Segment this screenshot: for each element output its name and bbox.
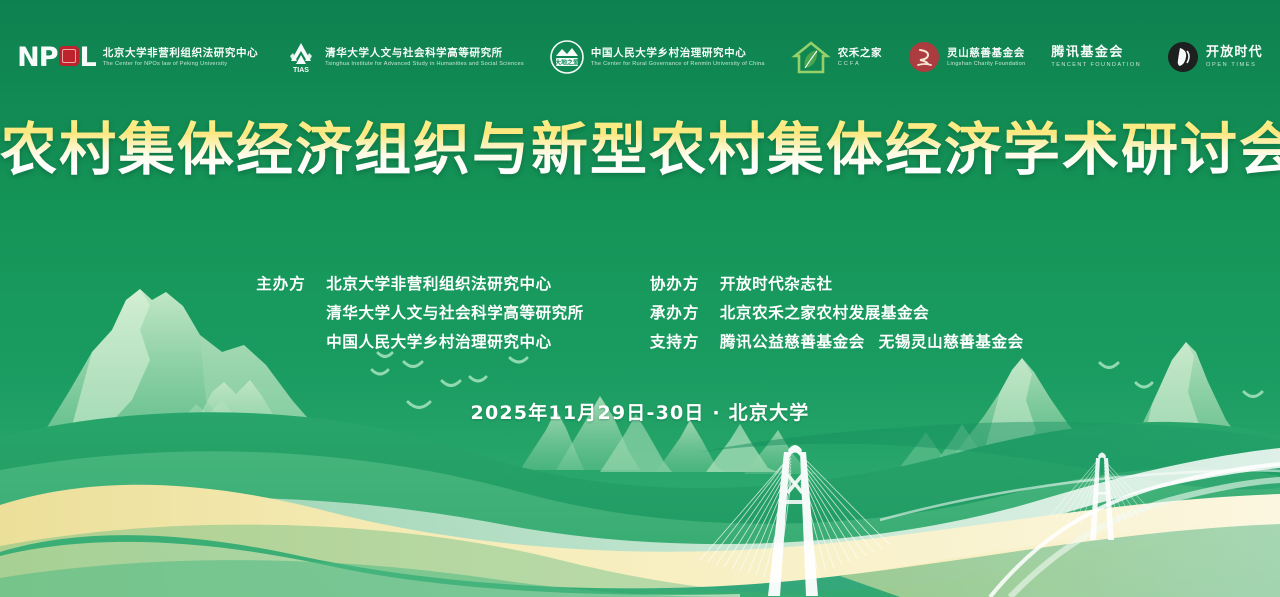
bridge-crossbeam: [785, 500, 809, 504]
credit-row: 主办方 北京大学非营利组织法研究中心: [256, 272, 584, 294]
credit-value: 中国人民大学乡村治理研究中心: [326, 330, 551, 352]
credit-row: 协办方 开放时代杂志社: [650, 272, 1024, 294]
logo-lingshan-en: Lingshan Charity Foundation: [947, 61, 1025, 67]
logo-renmin: 大地之爱 中国人民大学乡村治理研究中心 The Center for Rural…: [550, 34, 765, 80]
sponsor-logo-bar: NPL 北京大学非营利组织法研究中心 The Center for NPOs l…: [0, 30, 1280, 84]
credits-right-column: 协办方 开放时代杂志社 承办方 北京农禾之家农村发展基金会 支持方 腾讯公益慈善…: [650, 272, 1024, 352]
credit-row: 主办方 清华大学人文与社会科学高等研究所: [256, 301, 584, 323]
tencent-foundation-icon: 腾讯基金会 TENCENT FOUNDATION: [1051, 46, 1141, 69]
credit-row: 支持方 腾讯公益慈善基金会 无锡灵山慈善基金会: [650, 330, 1024, 352]
logo-tencent-cn: 腾讯基金会: [1051, 46, 1141, 61]
credit-label-host: 承办方: [650, 301, 706, 323]
logo-ccfa: 农禾之家 C C F A: [791, 34, 882, 80]
credit-label-supporter: 支持方: [650, 330, 706, 352]
credits-block: 主办方 北京大学非营利组织法研究中心 主办方 清华大学人文与社会科学高等研究所 …: [0, 272, 1280, 352]
logo-ccfa-cn: 农禾之家: [838, 47, 882, 59]
logo-tencent: 腾讯基金会 TENCENT FOUNDATION: [1051, 34, 1141, 80]
page-title: 农村集体经济组织与新型农村集体经济学术研讨会: [0, 118, 1280, 184]
logo-tias: TIAS 清华大学人文与社会科学高等研究所 Tsinghua Institute…: [284, 34, 524, 80]
logo-tias-cn: 清华大学人文与社会科学高等研究所: [325, 47, 524, 59]
logo-opentimes-cn: 开放时代: [1206, 46, 1263, 61]
logo-npol: NPL 北京大学非营利组织法研究中心 The Center for NPOs l…: [17, 34, 258, 80]
logo-tias-en: Tsinghua Institute for Advanced Study in…: [325, 61, 524, 67]
lingshan-circle-icon: [908, 41, 940, 73]
svg-text:TIAS: TIAS: [293, 67, 309, 74]
credit-value: 腾讯公益慈善基金会: [720, 330, 865, 352]
logo-ccfa-en: C C F A: [838, 61, 882, 67]
logo-renmin-en: The Center for Rural Governance of Renmi…: [591, 61, 765, 67]
date-venue-line: 2025年11月29日-30日 · 北京大学: [0, 398, 1280, 425]
credit-row: 承办方 北京农禾之家农村发展基金会: [650, 301, 1024, 323]
credit-value: 清华大学人文与社会科学高等研究所: [326, 301, 584, 323]
logo-renmin-cn: 中国人民大学乡村治理研究中心: [591, 47, 765, 59]
logo-opentimes-en: OPEN TIMES: [1206, 62, 1263, 68]
logo-npol-en: The Center for NPOs law of Peking Univer…: [103, 61, 258, 67]
credit-value: 北京农禾之家农村发展基金会: [720, 301, 929, 323]
open-times-circle-icon: [1167, 41, 1199, 73]
logo-opentimes: 开放时代 OPEN TIMES: [1167, 34, 1263, 80]
credit-label-organizer: 主办方: [256, 272, 312, 294]
conference-banner: NPL 北京大学非营利组织法研究中心 The Center for NPOs l…: [0, 0, 1280, 597]
svg-text:大地之爱: 大地之爱: [555, 59, 579, 67]
credit-value-secondary: 无锡灵山慈善基金会: [879, 330, 1024, 352]
tias-mountain-icon: TIAS: [284, 39, 318, 75]
logo-lingshan-cn: 灵山慈善基金会: [947, 47, 1025, 59]
credit-value: 北京大学非营利组织法研究中心: [326, 272, 551, 294]
credit-value: 开放时代杂志社: [720, 272, 833, 294]
renmin-seal-icon: 大地之爱: [550, 40, 584, 74]
ccfa-house-leaf-icon: [791, 38, 831, 76]
logo-npol-cn: 北京大学非营利组织法研究中心: [103, 47, 258, 59]
credits-left-column: 主办方 北京大学非营利组织法研究中心 主办方 清华大学人文与社会科学高等研究所 …: [256, 272, 584, 352]
logo-lingshan: 灵山慈善基金会 Lingshan Charity Foundation: [908, 34, 1025, 80]
credit-row: 主办方 中国人民大学乡村治理研究中心: [256, 330, 584, 352]
logo-tencent-en: TENCENT FOUNDATION: [1051, 62, 1141, 68]
bridge-far-beam: [1094, 492, 1110, 495]
credit-label-coorganizer: 协办方: [650, 272, 706, 294]
npol-wordmark-icon: NPL: [17, 44, 96, 71]
